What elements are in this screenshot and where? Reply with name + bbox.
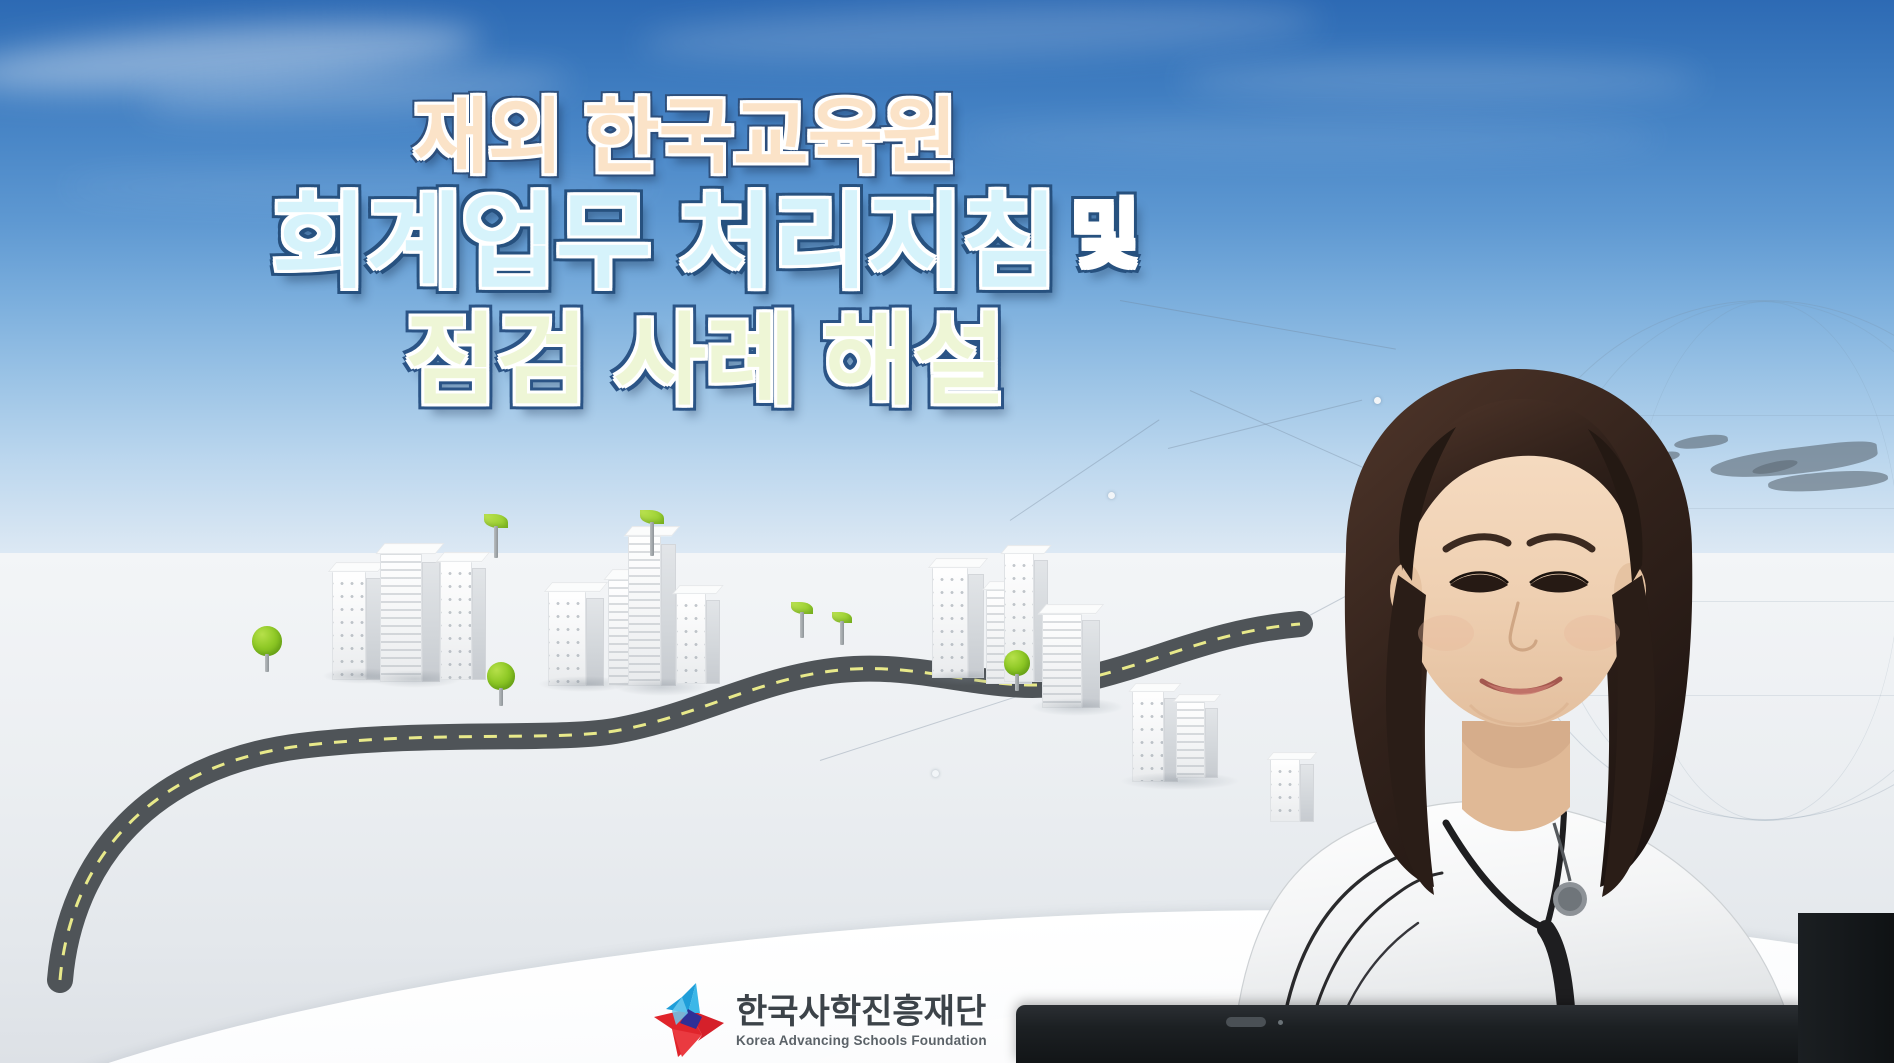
- tree: [252, 626, 282, 674]
- foundation-logo: 한국사학진흥재단 Korea Advancing Schools Foundat…: [648, 983, 987, 1059]
- logo-text-block: 한국사학진흥재단 Korea Advancing Schools Foundat…: [736, 995, 987, 1048]
- laptop-screen-edge: [1016, 1005, 1806, 1063]
- tree-sprout: [832, 612, 852, 648]
- building: [932, 566, 984, 678]
- building: [380, 552, 440, 682]
- presenter-figure: [1094, 303, 1894, 1063]
- building: [440, 560, 486, 680]
- tree-sprout: [640, 510, 664, 562]
- tree-sprout: [791, 602, 813, 642]
- tree: [487, 662, 515, 708]
- laptop-camera-bar: [1226, 1017, 1266, 1027]
- building: [1042, 612, 1100, 708]
- tree: [1004, 650, 1030, 692]
- logo-name-en: Korea Advancing Schools Foundation: [736, 1034, 987, 1048]
- building: [548, 590, 604, 686]
- logo-name-kr: 한국사학진흥재단: [736, 995, 987, 1029]
- laptop-right-edge: [1798, 913, 1894, 1063]
- laptop-camera-dot: [1278, 1020, 1283, 1025]
- video-title-slide: 재외 한국교육원 회계업무 처리지침및 점검 사례 해설: [0, 0, 1894, 1063]
- building: [676, 592, 720, 684]
- building: [332, 570, 382, 680]
- star-logo-icon: [648, 983, 726, 1059]
- tree-sprout: [484, 514, 508, 564]
